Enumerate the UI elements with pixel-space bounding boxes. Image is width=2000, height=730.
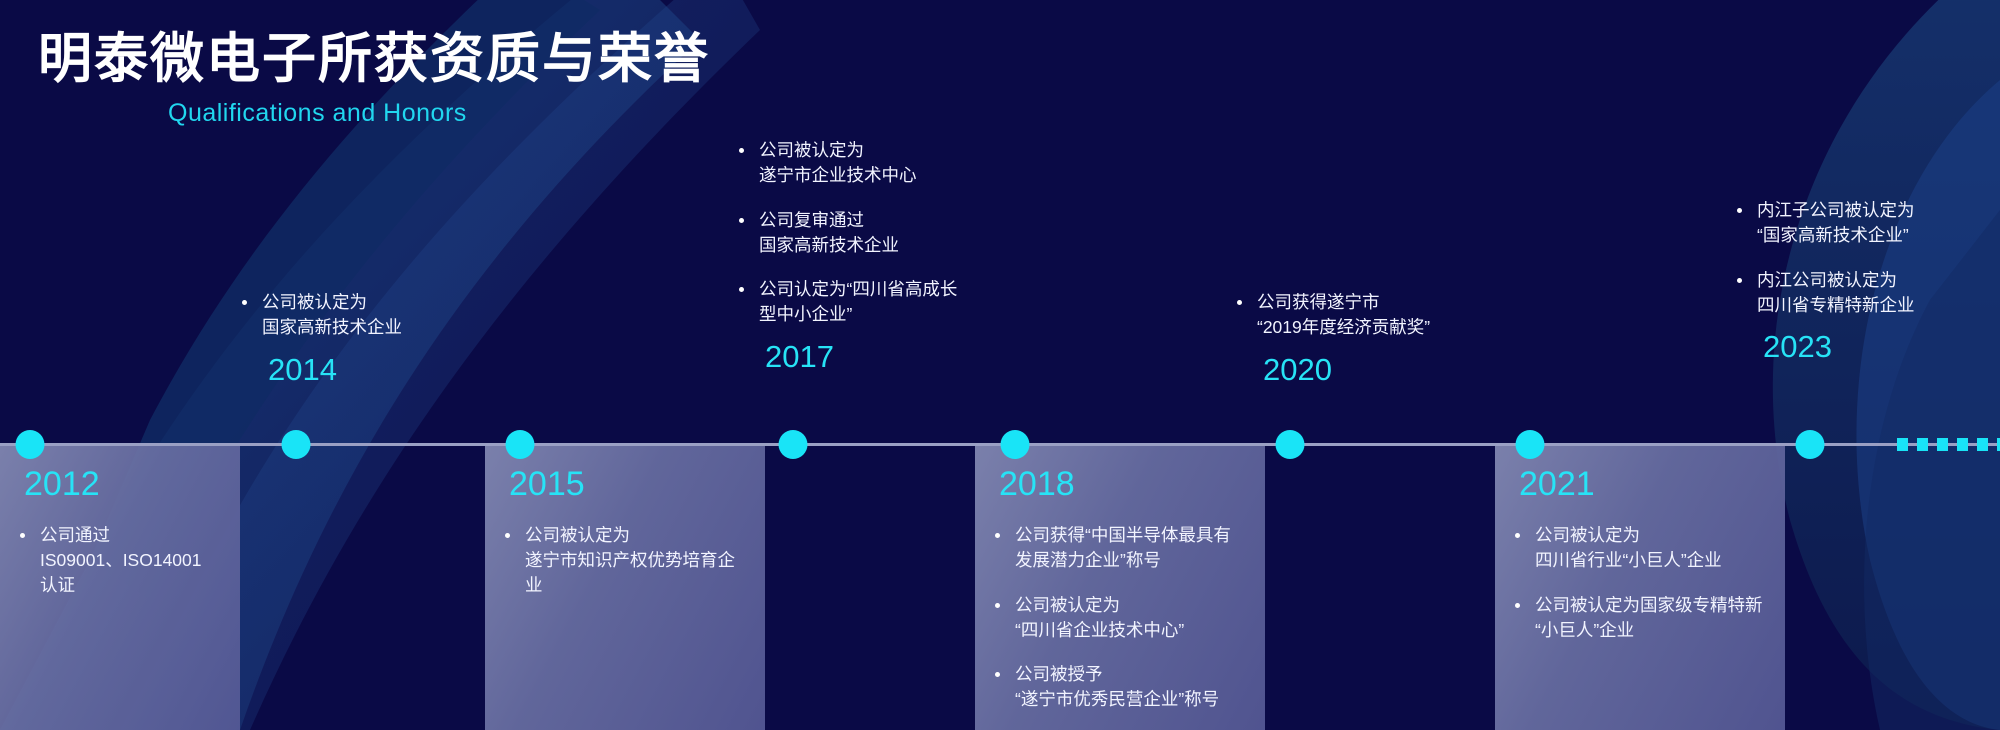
milestone-2020[interactable]: 公司获得遂宁市 “2019年度经济贡献奖” 2020 [1235, 290, 1535, 385]
list-item: 公司被认定为 国家高新技术企业 [240, 290, 510, 340]
timeline-node-2015[interactable] [506, 430, 535, 459]
milestone-2015-year: 2015 [509, 467, 747, 501]
timeline-node-2018[interactable] [1001, 430, 1030, 459]
list-item: 公司获得遂宁市 “2019年度经济贡献奖” [1235, 290, 1535, 340]
list-item: 公司被认定为 四川省行业“小巨人”企业 [1513, 523, 1767, 573]
list-item: 公司被认定为 遂宁市知识产权优势培育企业 [503, 523, 747, 598]
milestone-2015-items: 公司被认定为 遂宁市知识产权优势培育企业 [503, 523, 747, 598]
milestone-2017-year: 2017 [765, 341, 1027, 372]
list-item: 公司被认定为国家级专精特新 “小巨人”企业 [1513, 593, 1767, 643]
list-item: 内江公司被认定为 四川省专精特新企业 [1735, 268, 2000, 318]
timeline-node-2012[interactable] [16, 430, 45, 459]
list-item: 公司认定为“四川省高成长 型中小企业” [737, 277, 1027, 327]
timeline-node-2021[interactable] [1516, 430, 1545, 459]
list-item: 公司被认定为 遂宁市企业技术中心 [737, 138, 1027, 188]
list-item: 公司复审通过 国家高新技术企业 [737, 208, 1027, 258]
milestone-2018-items: 公司获得“中国半导体最具有 发展潜力企业”称号 公司被认定为 “四川省企业技术中… [993, 523, 1247, 712]
milestone-2021-year: 2021 [1519, 467, 1767, 501]
title-block: 明泰微电子所获资质与荣誉 Qualifications and Honors [38, 30, 710, 128]
slide-canvas: 明泰微电子所获资质与荣誉 Qualifications and Honors 公… [0, 0, 2000, 730]
milestone-2014-year: 2014 [268, 354, 510, 385]
milestone-2020-items: 公司获得遂宁市 “2019年度经济贡献奖” [1235, 290, 1535, 340]
list-item: 公司获得“中国半导体最具有 发展潜力企业”称号 [993, 523, 1247, 573]
milestone-2018[interactable]: 2018 公司获得“中国半导体最具有 发展潜力企业”称号 公司被认定为 “四川省… [975, 445, 1265, 730]
milestone-2023-year: 2023 [1763, 331, 2000, 362]
list-item: 公司被授予 “遂宁市优秀民营企业”称号 [993, 662, 1247, 712]
milestone-2021-items: 公司被认定为 四川省行业“小巨人”企业 公司被认定为国家级专精特新 “小巨人”企… [1513, 523, 1767, 642]
timeline-node-2023[interactable] [1796, 430, 1825, 459]
milestone-2017-items: 公司被认定为 遂宁市企业技术中心 公司复审通过 国家高新技术企业 公司认定为“四… [737, 138, 1027, 327]
milestone-2014[interactable]: 公司被认定为 国家高新技术企业 2014 [240, 290, 510, 385]
milestone-2017[interactable]: 公司被认定为 遂宁市企业技术中心 公司复审通过 国家高新技术企业 公司认定为“四… [737, 138, 1027, 372]
timeline-node-2020[interactable] [1276, 430, 1305, 459]
milestone-2020-year: 2020 [1263, 354, 1535, 385]
milestone-2012[interactable]: 2012 公司通过 IS09001、ISO14001 认证 [0, 445, 240, 730]
list-item: 公司通过 IS09001、ISO14001 认证 [18, 523, 222, 598]
list-item: 内江子公司被认定为 “国家高新技术企业” [1735, 198, 2000, 248]
timeline-axis-dashes [1897, 438, 2000, 451]
milestone-2021[interactable]: 2021 公司被认定为 四川省行业“小巨人”企业 公司被认定为国家级专精特新 “… [1495, 445, 1785, 730]
milestone-2012-year: 2012 [24, 467, 222, 501]
milestone-2023[interactable]: 内江子公司被认定为 “国家高新技术企业” 内江公司被认定为 四川省专精特新企业 … [1735, 198, 2000, 362]
list-item: 公司被认定为 “四川省企业技术中心” [993, 593, 1247, 643]
timeline-node-2017[interactable] [779, 430, 808, 459]
timeline-node-2014[interactable] [282, 430, 311, 459]
milestone-2014-items: 公司被认定为 国家高新技术企业 [240, 290, 510, 340]
milestone-2018-year: 2018 [999, 467, 1247, 501]
milestone-2012-items: 公司通过 IS09001、ISO14001 认证 [18, 523, 222, 598]
milestone-2023-items: 内江子公司被认定为 “国家高新技术企业” 内江公司被认定为 四川省专精特新企业 [1735, 198, 2000, 317]
page-title: 明泰微电子所获资质与荣誉 [38, 30, 710, 89]
milestone-2015[interactable]: 2015 公司被认定为 遂宁市知识产权优势培育企业 [485, 445, 765, 730]
page-subtitle: Qualifications and Honors [168, 99, 710, 128]
